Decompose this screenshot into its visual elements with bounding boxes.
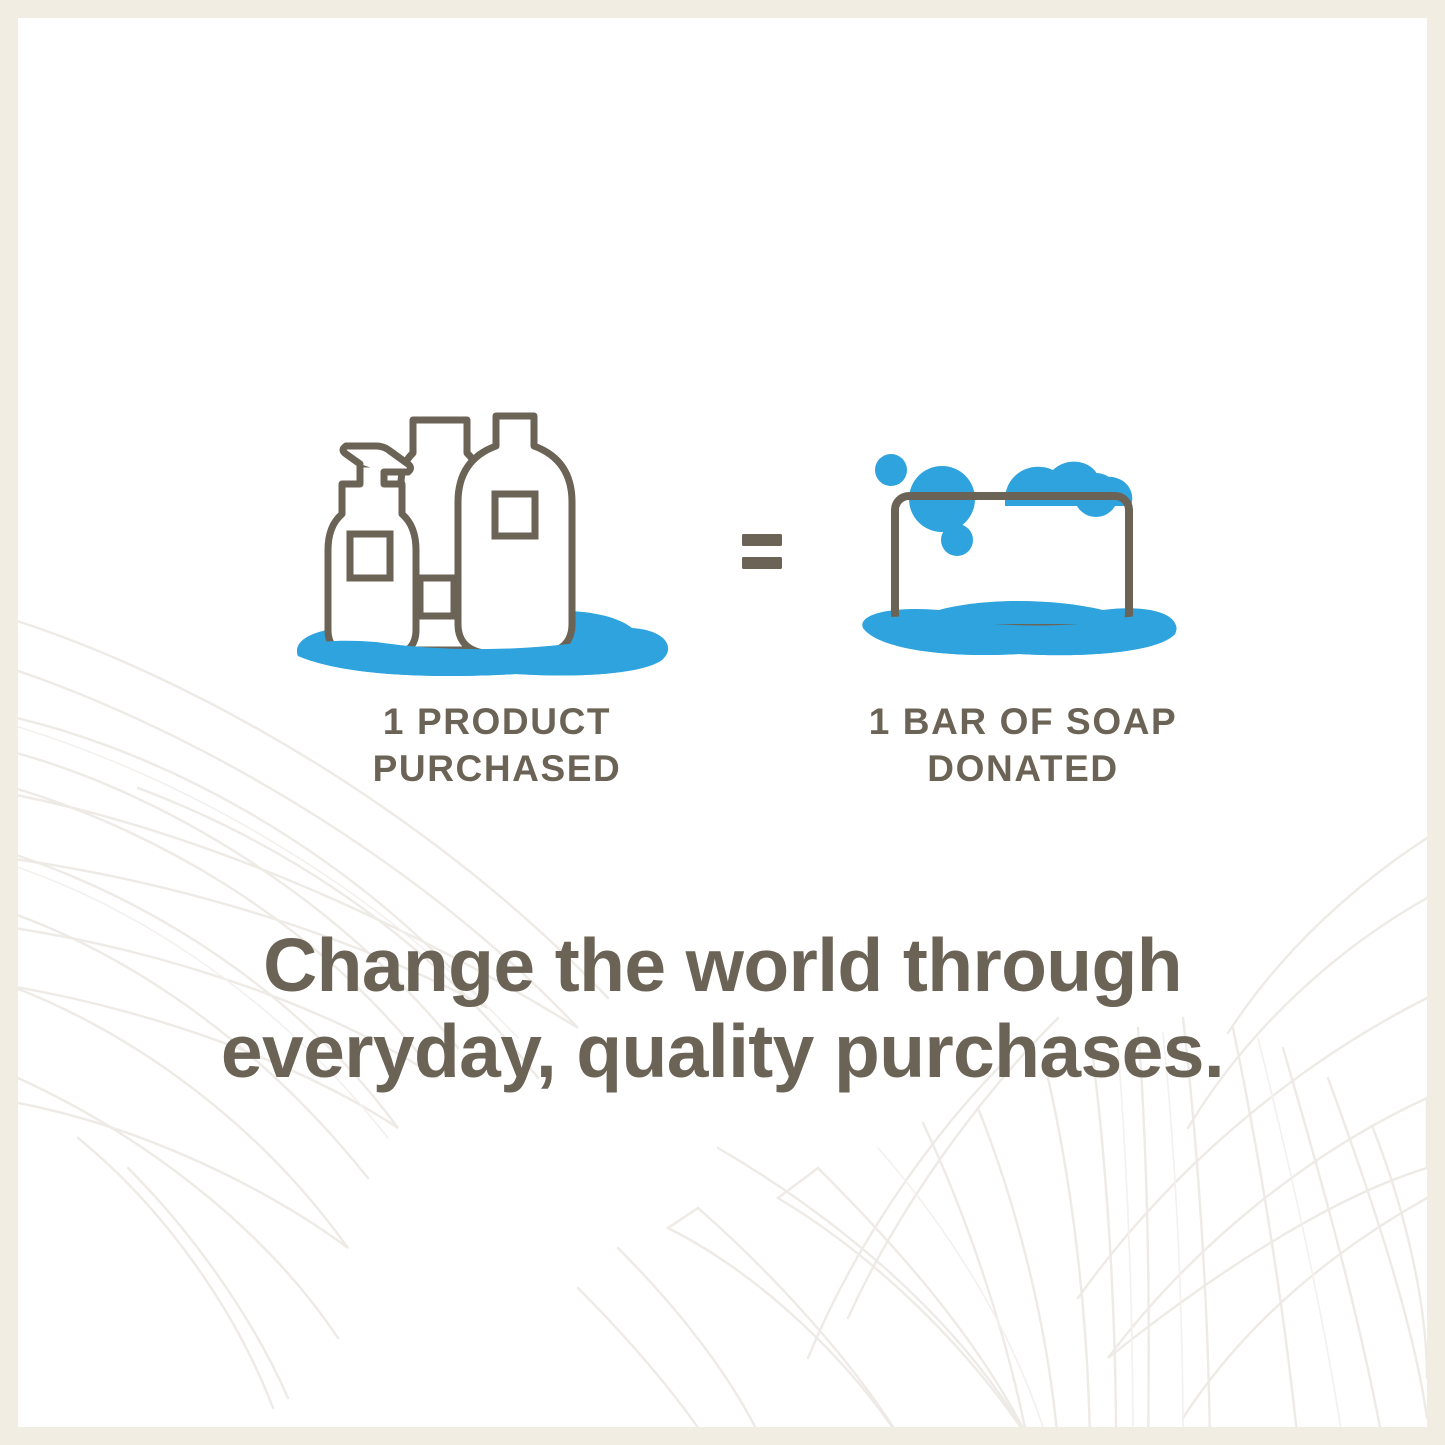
soap-bar-icon	[853, 438, 1193, 688]
caption-product-purchased: 1 PRODUCT PURCHASED	[267, 698, 727, 793]
card-inner: 1 PRODUCT PURCHASED 1 BAR OF SOAP DONATE…	[18, 18, 1427, 1427]
headline-line-1: Change the world through	[18, 923, 1427, 1009]
promo-card: 1 PRODUCT PURCHASED 1 BAR OF SOAP DONATE…	[0, 0, 1445, 1445]
infographic-row	[18, 398, 1427, 698]
product-bottles-icon	[280, 398, 680, 688]
equals-sign	[732, 518, 792, 578]
caption-soap-donated: 1 BAR OF SOAP DONATED	[788, 698, 1258, 793]
headline: Change the world through everyday, quali…	[18, 923, 1427, 1094]
headline-line-2: everyday, quality purchases.	[18, 1009, 1427, 1095]
